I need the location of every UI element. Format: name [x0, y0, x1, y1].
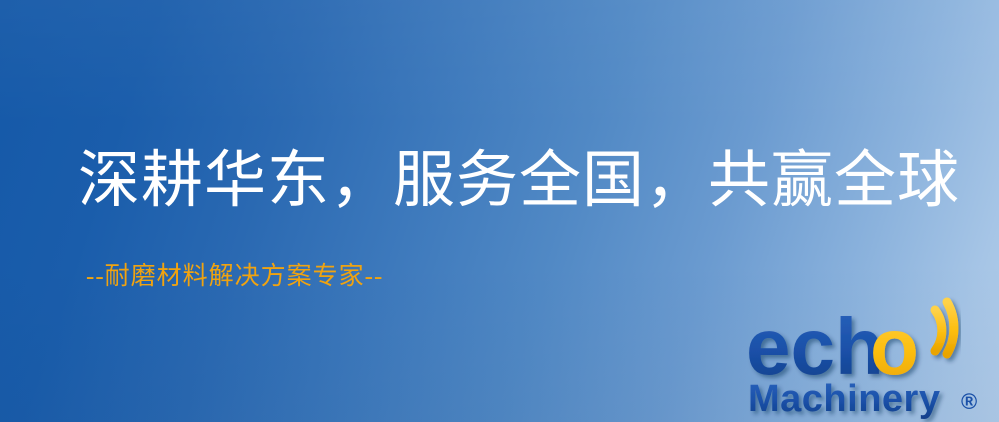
banner-subtitle: --耐磨材料解决方案专家-- [86, 264, 383, 289]
logo-wordmark-machinery: Machinery [748, 378, 940, 420]
banner-headline: 深耕华东，服务全国，共赢全球 [78, 150, 960, 212]
registered-trademark-icon: ® [961, 389, 977, 414]
hero-banner: 深耕华东，服务全国，共赢全球 --耐磨材料解决方案专家-- [0, 0, 999, 422]
echo-machinery-logo[interactable]: ech o Machinery ® [742, 296, 999, 422]
echo-wave-arcs [935, 302, 954, 354]
